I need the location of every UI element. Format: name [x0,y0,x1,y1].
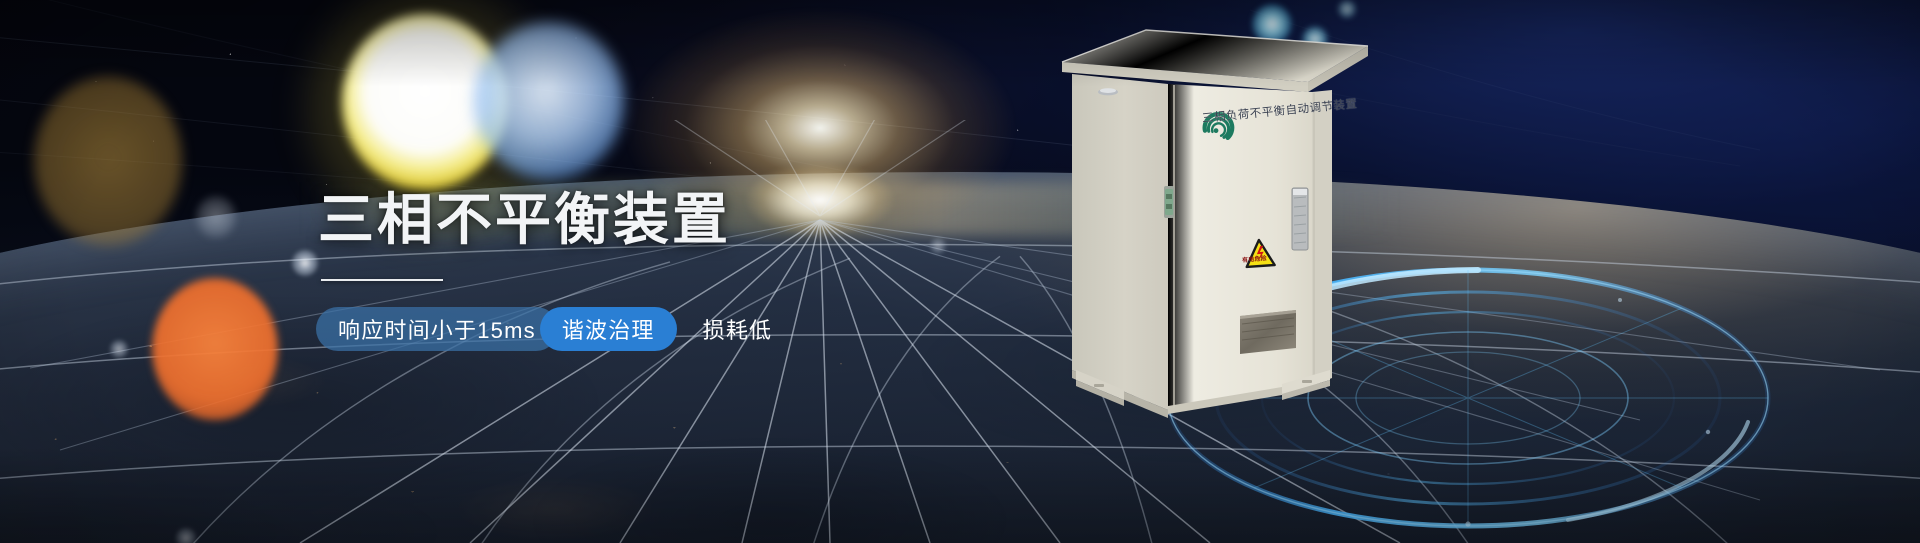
feature-badge-harmonic[interactable]: 谐波治理 [540,307,677,351]
door-lock-handle [1164,186,1174,218]
feature-badge-list: 响应时间小于15ms 谐波治理 损耗低 [316,307,958,351]
title-underline [321,279,443,281]
feature-badge-low-loss[interactable]: 损耗低 [677,307,795,351]
grid-node-sparkle [176,528,196,543]
bokeh-amber [34,76,182,246]
vent-grille-panel [1240,310,1296,354]
page-title: 三相不平衡装置 [318,190,958,249]
grid-node-sparkle [110,340,128,358]
bokeh-blue [474,22,624,180]
cabinet-side-panel [1072,74,1168,418]
bokeh-grey-small [196,196,236,238]
banner-copy: 三相不平衡装置 响应时间小于15ms 谐波治理 损耗低 [318,190,958,351]
grid-node-sparkle [292,250,318,276]
hero-banner: 三相负荷不平衡自动调节装置 有电危险 三相不平衡装置 响应时间小于15ms 谐波… [0,0,1920,543]
cabinet-door-panel [1168,84,1312,414]
cabinet-right-edge [1312,90,1332,386]
bokeh-cyan-small [1338,0,1356,18]
feature-badge-response-time[interactable]: 响应时间小于15ms [316,307,558,351]
bokeh-orange [152,278,278,420]
product-cabinet: 三相负荷不平衡自动调节装置 有电危险 [1050,18,1380,438]
ventilation-louver [1292,188,1308,250]
